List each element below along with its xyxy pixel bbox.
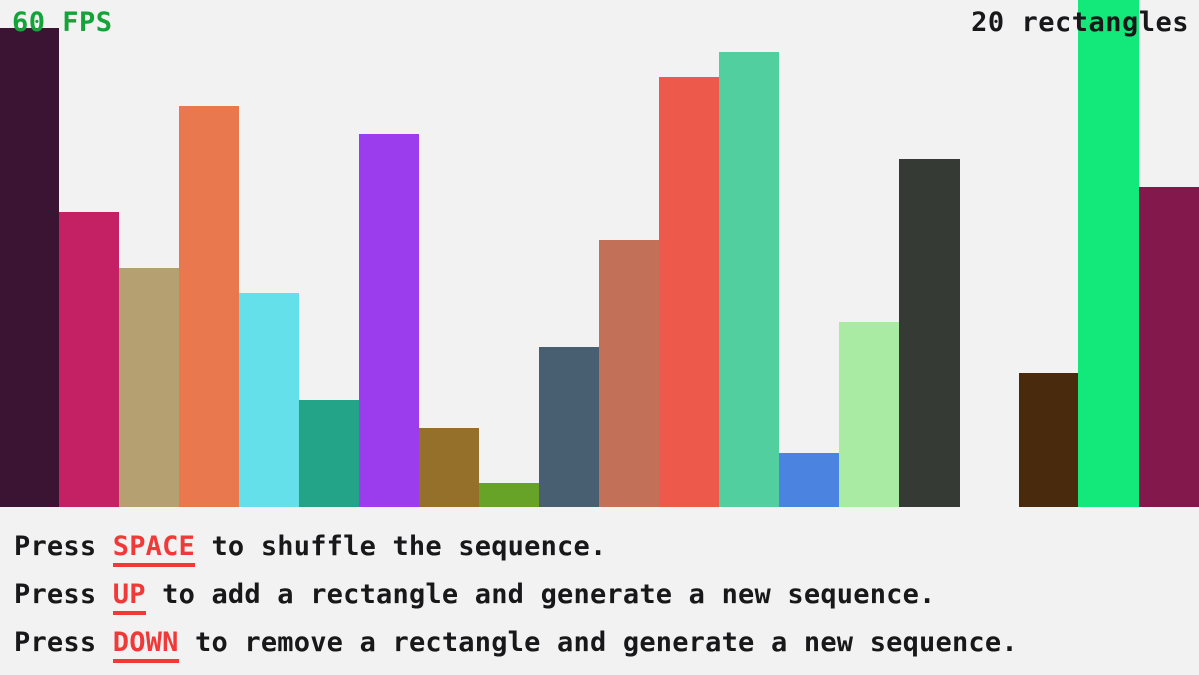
bar-rectangle [779,453,839,507]
bar-rectangle [479,483,539,507]
fps-counter: 60 FPS [12,9,113,36]
bar-rectangle [839,322,899,507]
bar-rectangle [1078,0,1139,507]
bar-rectangle [0,28,59,507]
bar-rectangle [719,52,779,507]
rectangle-count-label: 20 rectangles [971,9,1189,36]
instruction-prefix: Press [14,531,113,562]
bar-rectangle [539,347,599,507]
instruction-suffix: to remove a rectangle and generate a new… [179,627,1018,658]
bar-rectangle [599,240,659,507]
instruction-line: Press SPACE to shuffle the sequence. [14,523,1199,571]
bar-rectangle [899,159,960,507]
bar-rectangle [299,400,359,507]
key-hint-up[interactable]: UP [113,579,146,615]
instruction-prefix: Press [14,627,113,658]
instruction-suffix: to add a rectangle and generate a new se… [146,579,936,610]
instruction-suffix: to shuffle the sequence. [195,531,606,562]
bar-rectangle [119,268,179,507]
bar-rectangle [1019,373,1078,507]
key-hint-down[interactable]: DOWN [113,627,179,663]
app-stage: 60 FPS 20 rectangles Press SPACE to shuf… [0,0,1199,675]
bar-rectangle [59,212,119,507]
key-hint-space[interactable]: SPACE [113,531,195,567]
bar-rectangle [419,428,479,507]
instructions-panel: Press SPACE to shuffle the sequence.Pres… [0,507,1199,675]
bar-rectangle [239,293,299,507]
bar-chart-canvas [0,0,1199,507]
bar-rectangle [179,106,239,507]
instruction-line: Press UP to add a rectangle and generate… [14,571,1199,619]
bar-rectangle [359,134,419,507]
instruction-line: Press DOWN to remove a rectangle and gen… [14,619,1199,667]
bar-rectangle [1139,187,1199,507]
instruction-prefix: Press [14,579,113,610]
bar-rectangle [659,77,719,507]
